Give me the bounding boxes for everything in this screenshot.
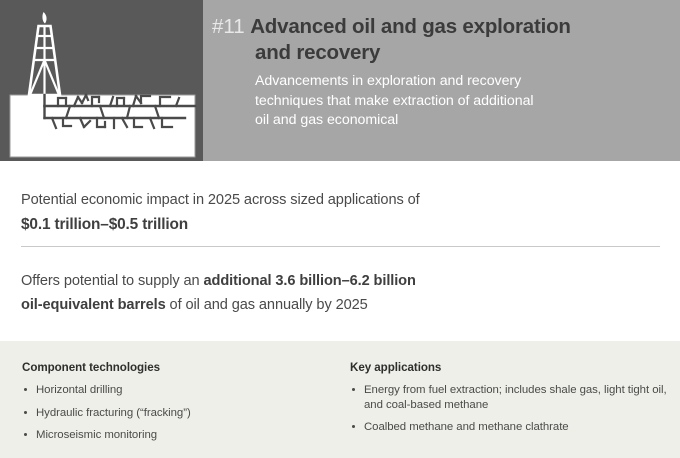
bullet-dot-icon: [24, 411, 27, 414]
page-title-line1: #11 Advanced oil and gas exploration: [212, 14, 662, 40]
supply-potential-block: Offers potential to supply an additional…: [21, 269, 641, 317]
economic-impact-label: Potential economic impact in 2025 across…: [21, 189, 661, 212]
section-divider: [21, 246, 660, 247]
bullet-dot-icon: [24, 433, 27, 436]
component-technologies-column: Component technologies Horizontal drilli…: [22, 361, 332, 443]
item-number: #11: [212, 15, 245, 38]
derrick-svg: [0, 0, 203, 161]
supply-line-1: Offers potential to supply an additional…: [21, 269, 641, 293]
key-applications-column: Key applications Energy from fuel extrac…: [350, 361, 670, 435]
supply-line-2: oil-equivalent barrels of oil and gas an…: [21, 293, 641, 317]
supply-prefix: Offers potential to supply an: [21, 273, 204, 289]
list-item: Horizontal drilling: [22, 383, 332, 398]
details-panel: Component technologies Horizontal drilli…: [0, 341, 680, 458]
page-title-line2: and recovery: [255, 40, 662, 66]
list-item-label: Hydraulic fracturing (“fracking”): [36, 407, 191, 419]
list-item: Coalbed methane and methane clathrate: [350, 420, 670, 435]
page-subtitle-line2: techniques that make extraction of addit…: [255, 92, 662, 112]
page-subtitle-line1: Advancements in exploration and recovery: [255, 72, 662, 92]
oil-derrick-fracking-illustration: [0, 0, 203, 161]
economic-impact-value: $0.1 trillion–$0.5 trillion: [21, 213, 661, 236]
infographic-card: #11 Advanced oil and gas exploration and…: [0, 0, 680, 458]
bullet-dot-icon: [352, 388, 355, 391]
component-technologies-list: Horizontal drilling Hydraulic fracturing…: [22, 383, 332, 443]
list-item-label: Microseismic monitoring: [36, 429, 157, 441]
page-title-text1: Advanced oil and gas exploration: [250, 15, 571, 38]
page-subtitle-line3: oil and gas economical: [255, 111, 662, 131]
list-item-label: Coalbed methane and methane clathrate: [364, 421, 569, 433]
header-text-block: #11 Advanced oil and gas exploration and…: [212, 14, 662, 131]
list-item: Hydraulic fracturing (“fracking”): [22, 406, 332, 421]
key-applications-list: Energy from fuel extraction; includes sh…: [350, 383, 670, 435]
list-item: Energy from fuel extraction; includes sh…: [350, 383, 670, 412]
impact-section: Potential economic impact in 2025 across…: [0, 161, 680, 341]
list-item-label: Horizontal drilling: [36, 384, 122, 396]
bullet-dot-icon: [24, 388, 27, 391]
key-applications-heading: Key applications: [350, 361, 670, 374]
supply-highlight-1: additional 3.6 billion–6.2 billion: [204, 273, 416, 289]
list-item-label: Energy from fuel extraction; includes sh…: [364, 384, 667, 411]
list-item: Microseismic monitoring: [22, 428, 332, 443]
component-technologies-heading: Component technologies: [22, 361, 332, 374]
supply-suffix: of oil and gas annually by 2025: [166, 297, 368, 313]
header-band: #11 Advanced oil and gas exploration and…: [0, 0, 680, 161]
bullet-dot-icon: [352, 425, 355, 428]
supply-highlight-2: oil-equivalent barrels: [21, 297, 166, 313]
economic-impact-block: Potential economic impact in 2025 across…: [21, 189, 661, 236]
